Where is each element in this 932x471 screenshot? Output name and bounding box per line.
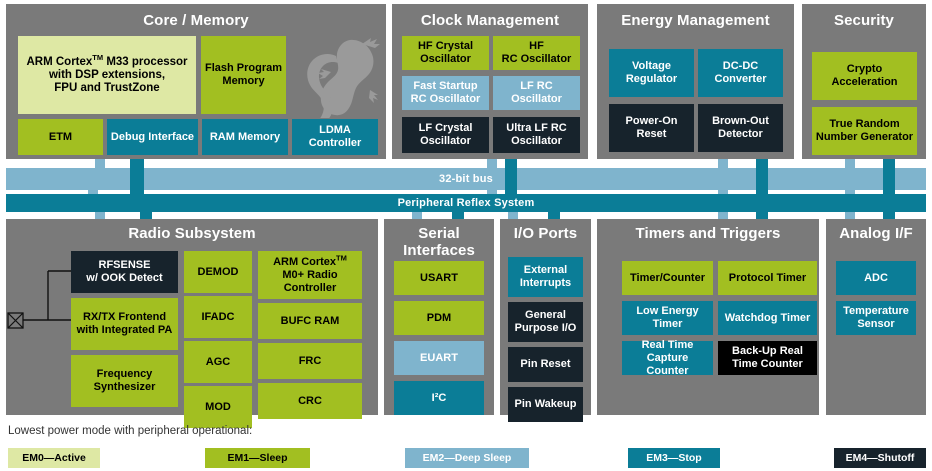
block-label: True RandomNumber Generator: [816, 118, 913, 144]
panel-title-security: Security: [802, 12, 926, 29]
block-temperature-sensor[interactable]: TemperatureSensor: [836, 301, 916, 335]
block-pin-wakeup[interactable]: Pin Wakeup: [508, 387, 583, 422]
block-label: Protocol Timer: [729, 272, 806, 285]
bus-32bit-label: 32-bit bus: [439, 173, 493, 185]
legend-label: EM0—Active: [22, 452, 86, 464]
panel-title-core-memory: Core / Memory: [6, 12, 386, 29]
block-ldma-controller[interactable]: LDMAController: [292, 119, 378, 155]
block-pin-reset[interactable]: Pin Reset: [508, 347, 583, 382]
block-crypto-acceleration[interactable]: Crypto Acceleration: [812, 52, 917, 100]
block-label-cortex-m33-l1: ARM CortexTM M33 processor: [26, 56, 187, 68]
panel-timers-and-triggers: Timers and Triggers Timer/Counter Protoc…: [597, 219, 819, 415]
block-label: DC-DCConverter: [715, 60, 767, 86]
block-label: IFADC: [202, 311, 235, 324]
block-label: GeneralPurpose I/O: [515, 309, 577, 335]
block-voltage-regulator[interactable]: VoltageRegulator: [609, 49, 694, 97]
block-usart[interactable]: USART: [394, 261, 484, 295]
legend-item-em4-shutoff[interactable]: EM4—Shutoff: [834, 448, 926, 468]
block-fast-startup-rc-oscillator[interactable]: Fast StartupRC Oscillator: [402, 76, 489, 110]
block-rfsense-ook-detect[interactable]: RFSENSEw/ OOK Detect: [71, 251, 178, 293]
block-label: PDM: [427, 312, 451, 325]
block-real-time-capture-counter[interactable]: Real TimeCapture Counter: [622, 341, 713, 375]
legend-caption: Lowest power mode with peripheral operat…: [8, 425, 252, 437]
block-label: ARM CortexTMM0+ RadioController: [273, 256, 347, 295]
block-lf-rc-oscillator[interactable]: LF RC Oscillator: [493, 76, 580, 110]
block-label: Brown-OutDetector: [712, 115, 769, 141]
block-label: Back-Up RealTime Counter: [732, 345, 803, 371]
block-protocol-timer[interactable]: Protocol Timer: [718, 261, 817, 295]
block-external-interrupts[interactable]: ExternalInterrupts: [508, 257, 583, 297]
legend-label: EM3—Stop: [646, 452, 701, 464]
block-label: ADC: [864, 272, 888, 285]
legend-label: EM1—Sleep: [227, 452, 287, 464]
block-label: LF CrystalOscillator: [419, 122, 473, 148]
block-label: HF CrystalOscillator: [418, 40, 473, 66]
block-etm[interactable]: ETM: [18, 119, 103, 155]
panel-title-analog-if: Analog I/F: [826, 225, 926, 242]
panel-io-ports: I/O Ports ExternalInterrupts GeneralPurp…: [500, 219, 591, 415]
block-rx-tx-frontend[interactable]: RX/TX Frontendwith Integrated PA: [71, 298, 178, 350]
block-label: I²C: [432, 392, 447, 405]
block-frequency-synthesizer[interactable]: FrequencySynthesizer: [71, 355, 178, 407]
block-ifadc[interactable]: IFADC: [184, 296, 252, 338]
block-demod[interactable]: DEMOD: [184, 251, 252, 293]
block-timer-counter[interactable]: Timer/Counter: [622, 261, 713, 295]
block-label-cortex-m33-l3: FPU and TrustZone: [54, 82, 159, 94]
legend-item-em3-stop[interactable]: EM3—Stop: [628, 448, 720, 468]
panel-radio-subsystem: Radio Subsystem RFSENSEw/ OOK Detect RX/…: [6, 219, 378, 415]
legend-item-em2-deep-sleep[interactable]: EM2—Deep Sleep: [405, 448, 529, 468]
bus-peripheral-reflex-system: Peripheral Reflex System: [6, 194, 926, 212]
block-i2c[interactable]: I²C: [394, 381, 484, 415]
panel-serial-interfaces: SerialInterfaces USART PDM EUART I²C: [384, 219, 494, 415]
legend-item-em0-active[interactable]: EM0—Active: [8, 448, 100, 468]
block-debug-interface[interactable]: Debug Interface: [107, 119, 198, 155]
panel-title-energy-management: Energy Management: [597, 12, 794, 29]
block-label: Pin Wakeup: [515, 398, 577, 411]
block-euart[interactable]: EUART: [394, 341, 484, 375]
block-label: Fast StartupRC Oscillator: [411, 80, 481, 106]
block-label: VoltageRegulator: [626, 60, 677, 86]
panel-title-radio-subsystem: Radio Subsystem: [6, 225, 378, 242]
block-brown-out-detector[interactable]: Brown-OutDetector: [698, 104, 783, 152]
panel-title-timers-and-triggers: Timers and Triggers: [597, 225, 819, 242]
block-general-purpose-io[interactable]: GeneralPurpose I/O: [508, 302, 583, 342]
block-label: Debug Interface: [111, 131, 194, 144]
legend-item-em1-sleep[interactable]: EM1—Sleep: [205, 448, 310, 468]
block-power-on-reset[interactable]: Power-OnReset: [609, 104, 694, 152]
bus-link-2: [505, 168, 517, 190]
block-frc[interactable]: FRC: [258, 343, 362, 379]
block-label: RAM Memory: [210, 131, 280, 144]
block-pdm[interactable]: PDM: [394, 301, 484, 335]
block-mod[interactable]: MOD: [184, 386, 252, 428]
gecko-logo-icon: [298, 32, 384, 118]
block-arm-cortex-m33[interactable]: ARM CortexTM M33 processor with DSP exte…: [18, 36, 196, 114]
block-label: Ultra LF RCOscillator: [506, 122, 567, 148]
block-crc[interactable]: CRC: [258, 383, 362, 419]
block-label: CRC: [298, 395, 322, 408]
block-watchdog-timer[interactable]: Watchdog Timer: [718, 301, 817, 335]
block-label: AGC: [206, 356, 230, 369]
panel-security: Security Crypto Acceleration True Random…: [802, 4, 926, 159]
block-back-up-real-time-counter[interactable]: Back-Up RealTime Counter: [718, 341, 817, 375]
block-label: Crypto Acceleration: [815, 63, 914, 89]
block-ram-memory[interactable]: RAM Memory: [202, 119, 288, 155]
bus-link-4: [883, 168, 895, 190]
block-flash-program-memory[interactable]: Flash Program Memory: [201, 36, 286, 114]
block-label: HFRC Oscillator: [502, 40, 572, 66]
block-label: RFSENSEw/ OOK Detect: [86, 259, 162, 285]
panel-analog-if: Analog I/F ADC TemperatureSensor: [826, 219, 926, 415]
block-label-ldma: LDMAController: [309, 124, 362, 150]
block-label: FrequencySynthesizer: [94, 368, 156, 394]
panel-title-clock-management: Clock Management: [392, 12, 588, 29]
block-lf-crystal-oscillator[interactable]: LF CrystalOscillator: [402, 117, 489, 153]
block-label: Timer/Counter: [630, 272, 705, 285]
block-true-random-number-generator[interactable]: True RandomNumber Generator: [812, 107, 917, 155]
block-label: RX/TX Frontendwith Integrated PA: [77, 311, 173, 337]
block-ultra-lf-rc-oscillator[interactable]: Ultra LF RCOscillator: [493, 117, 580, 153]
block-bufc-ram[interactable]: BUFC RAM: [258, 303, 362, 339]
block-label: ETM: [49, 131, 72, 144]
legend-label: EM4—Shutoff: [846, 452, 915, 464]
block-label: USART: [420, 272, 458, 285]
legend-label: EM2—Deep Sleep: [423, 452, 512, 464]
panel-title-serial-interfaces: SerialInterfaces: [384, 225, 494, 259]
block-agc[interactable]: AGC: [184, 341, 252, 383]
block-label: BUFC RAM: [281, 315, 340, 328]
block-hf-crystal-oscillator[interactable]: HF CrystalOscillator: [402, 36, 489, 70]
block-dc-dc-converter[interactable]: DC-DCConverter: [698, 49, 783, 97]
block-adc[interactable]: ADC: [836, 261, 916, 295]
bus-prs-label: Peripheral Reflex System: [398, 197, 535, 209]
block-label: Watchdog Timer: [725, 312, 811, 325]
panel-core-memory: Core / Memory ARM CortexTM M33 processor…: [6, 4, 386, 159]
panel-clock-management: Clock Management HF CrystalOscillator HF…: [392, 4, 588, 159]
block-label: DEMOD: [198, 266, 239, 279]
block-label: ExternalInterrupts: [520, 264, 571, 290]
block-label: Low Energy Timer: [625, 305, 710, 331]
block-label: EUART: [420, 352, 458, 365]
block-label-cortex-m33-l2: with DSP extensions,: [49, 69, 165, 81]
block-diagram: Core / Memory ARM CortexTM M33 processor…: [0, 0, 932, 471]
bus-link-3: [756, 168, 768, 190]
bus-32bit: 32-bit bus: [6, 168, 926, 190]
block-label: Real TimeCapture Counter: [625, 339, 710, 378]
block-label: Flash Program Memory: [204, 62, 283, 88]
block-low-energy-timer[interactable]: Low Energy Timer: [622, 301, 713, 335]
block-label: Power-OnReset: [626, 115, 678, 141]
block-label: Pin Reset: [520, 358, 570, 371]
block-hf-rc-oscillator[interactable]: HFRC Oscillator: [493, 36, 580, 70]
bus-link-1: [130, 168, 144, 190]
block-label: FRC: [299, 355, 322, 368]
block-arm-cortex-m0-radio-controller[interactable]: ARM CortexTMM0+ RadioController: [258, 251, 362, 299]
block-label: LF RC Oscillator: [496, 80, 577, 106]
block-label: TemperatureSensor: [843, 305, 909, 331]
panel-energy-management: Energy Management VoltageRegulator DC-DC…: [597, 4, 794, 159]
block-label: MOD: [205, 401, 231, 414]
panel-title-io-ports: I/O Ports: [500, 225, 591, 242]
